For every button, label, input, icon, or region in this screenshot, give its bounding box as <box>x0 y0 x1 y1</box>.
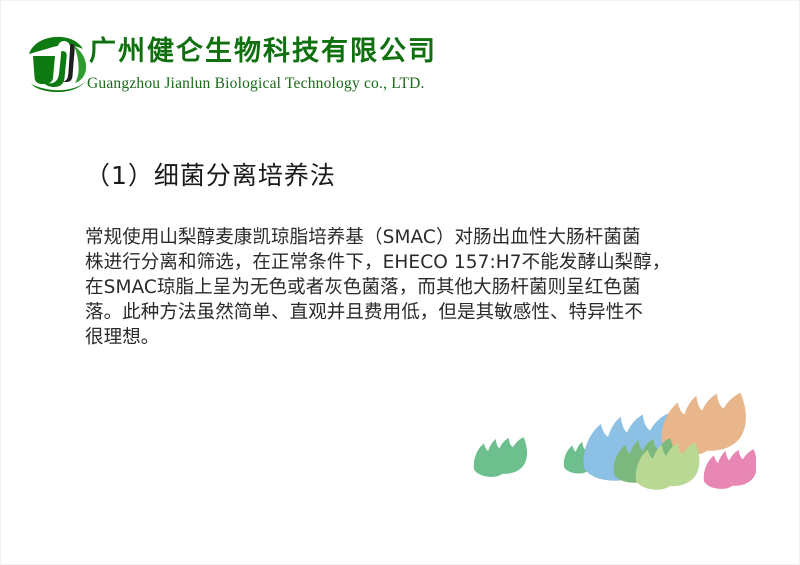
paragraph-line: 株进行分离和筛选，在正常条件下，EHECO 157:H7不能发酵山梨醇， <box>85 250 725 275</box>
paragraph-line: 落。此种方法虽然简单、直观并且费用低，但是其敏感性、特异性不 <box>85 300 725 325</box>
paragraph-line: 在SMAC琼脂上呈为无色或者灰色菌落，而其他大肠杆菌则呈红色菌 <box>85 275 725 300</box>
body-paragraph: 常规使用山梨醇麦康凯琼脂培养基（SMAC）对肠出血性大肠杆菌菌 株进行分离和筛选… <box>85 225 725 350</box>
leaf-pink <box>704 449 756 489</box>
ginkgo-leaf-cluster <box>466 383 756 503</box>
company-name-english: Guangzhou Jianlun Biological Technology … <box>87 75 425 93</box>
jianlun-leaf-monogram-icon <box>27 34 91 92</box>
slide-canvas: 广州健仑生物科技有限公司 Guangzhou Jianlun Biologica… <box>0 0 800 565</box>
leaf-green-left <box>474 437 527 477</box>
paragraph-line: 常规使用山梨醇麦康凯琼脂培养基（SMAC）对肠出血性大肠杆菌菌 <box>85 225 725 250</box>
company-logo-block: 广州健仑生物科技有限公司 Guangzhou Jianlun Biologica… <box>27 34 447 100</box>
paragraph-line: 很理想。 <box>85 325 725 350</box>
company-name-chinese: 广州健仑生物科技有限公司 <box>89 34 437 70</box>
page-title: （1）细菌分离培养法 <box>85 156 336 192</box>
